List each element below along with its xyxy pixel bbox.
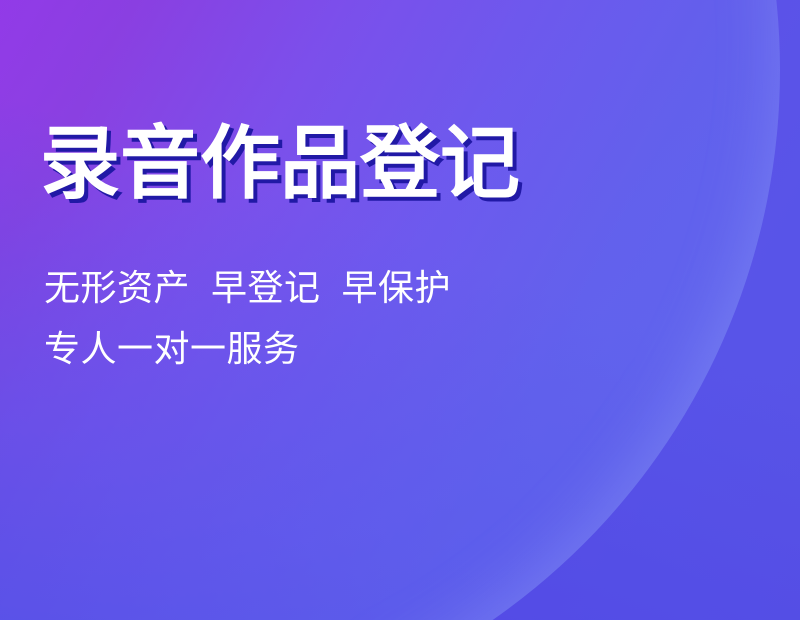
banner-subline-primary: 无形资产 早登记 早保护: [44, 270, 451, 306]
banner-content: 录音作品登记 无形资产 早登记 早保护 专人一对一服务: [0, 0, 800, 620]
banner-subline-secondary: 专人一对一服务: [44, 331, 300, 367]
banner-headline: 录音作品登记: [40, 124, 520, 204]
promo-banner: 录音作品登记 无形资产 早登记 早保护 专人一对一服务: [0, 0, 800, 620]
